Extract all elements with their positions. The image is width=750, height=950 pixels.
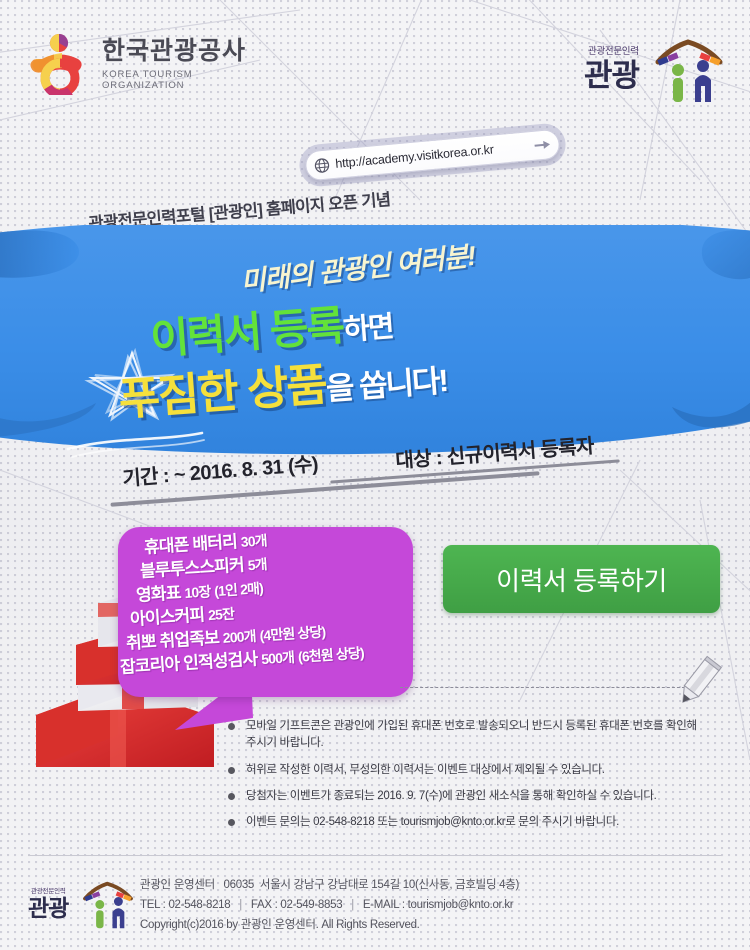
prize-note-3: (1인 2매) — [214, 580, 264, 599]
note-item: 허위로 작성한 이력서, 무성의한 이력서는 이벤트 대상에서 제외될 수 있습… — [228, 762, 698, 779]
headline-2-highlight: 푸짐한 상품 — [117, 359, 328, 425]
note-text: 모바일 기프트콘은 관광인에 가입된 휴대폰 번호로 발송되오니 반드시 등록된… — [246, 720, 697, 749]
footer-logo-tagline: 관광전문인력 — [31, 885, 66, 895]
footer-separator: | — [233, 899, 248, 911]
footer-contact-line: TEL : 02-548-8218 | FAX : 02-549-8853 | … — [140, 896, 519, 916]
banner-subhead: 미래의 관광인 여러분! — [239, 234, 477, 299]
bullet-icon — [228, 723, 235, 730]
footer-separator: | — [345, 899, 360, 911]
prize-name-6: 잡코리아 인적성검사 — [120, 649, 258, 677]
prize-list: 휴대폰 배터리 30개 블루투스스피커 5개 영화표 10장 (1인 2매) 아… — [118, 527, 418, 702]
portal-logo[interactable]: 관광전문인력 관광 — [582, 30, 722, 110]
bullet-icon — [228, 767, 235, 774]
prize-qty-5: 200개 — [222, 628, 256, 646]
note-item: 당첨자는 이벤트가 종료되는 2016. 9. 7(수)에 관광인 새소식을 통… — [228, 788, 698, 805]
banner-text-layer: 미래의 관광인 여러분! 이력서 등록하면 푸짐한 상품을 쏩니다! — [0, 225, 750, 470]
bullet-icon — [228, 793, 235, 800]
promo-page: 한국관광공사 KOREA TOURISM ORGANIZATION 관광전문인력… — [0, 0, 750, 950]
in-mark-icon — [82, 876, 134, 930]
footer-copyright: Copyright(c)2016 by 관광인 운영센터. All Rights… — [140, 916, 519, 936]
prize-qty-6: 500개 — [261, 649, 295, 667]
footer-logo-name: 관광 — [28, 897, 68, 920]
register-resume-button[interactable]: 이력서 등록하기 — [443, 545, 720, 613]
kto-ribbon-icon — [30, 33, 92, 95]
footer-email: E-MAIL : tourismjob@knto.or.kr — [363, 899, 514, 911]
portal-logo-name: 관광 — [584, 60, 639, 91]
blue-banner: 미래의 관광인 여러분! 이력서 등록하면 푸짐한 상품을 쏩니다! — [0, 225, 750, 470]
footer-divider — [28, 855, 722, 856]
prize-qty-4: 25잔 — [208, 605, 235, 623]
note-text: 당첨자는 이벤트가 종료되는 2016. 9. 7(수)에 관광인 새소식을 통… — [246, 790, 656, 802]
prize-note-6: (6천원 상당) — [298, 645, 365, 665]
portal-logo-tagline: 관광전문인력 — [588, 43, 639, 57]
footer-address-line: 관광인 운영센터 06035 서울시 강남구 강남대로 154길 10(신사동,… — [140, 876, 519, 896]
footer-logo[interactable]: 관광전문인력 관광 — [28, 876, 133, 938]
notes-list: 모바일 기프트콘은 관광인에 가입된 휴대폰 번호로 발송되오니 반드시 등록된… — [228, 718, 698, 840]
page-header: 한국관광공사 KOREA TOURISM ORGANIZATION 관광전문인력… — [0, 0, 750, 130]
footer-org: 관광인 운영센터 — [140, 879, 215, 891]
pencil-icon — [668, 655, 726, 713]
footer-text: 관광인 운영센터 06035 서울시 강남구 강남대로 154길 10(신사동,… — [140, 876, 519, 935]
note-text: 이벤트 문의는 02-548-8218 또는 tourismjob@knto.o… — [246, 816, 619, 828]
footer-tel: TEL : 02-548-8218 — [140, 899, 230, 911]
headline-1-tail: 하면 — [342, 311, 394, 347]
bullet-icon — [228, 819, 235, 826]
kto-name-en: KOREA TOURISM ORGANIZATION — [102, 69, 260, 91]
in-mark-icon — [654, 32, 724, 104]
url-text: http://academy.visitkorea.or.kr — [335, 142, 495, 170]
dashed-divider — [400, 687, 690, 689]
note-item: 모바일 기프트콘은 관광인에 가입된 휴대폰 번호로 발송되오니 반드시 등록된… — [228, 718, 698, 753]
kto-name-kr: 한국관광공사 — [102, 39, 260, 64]
footer-fax: FAX : 02-549-8853 — [251, 899, 342, 911]
note-item: 이벤트 문의는 02-548-8218 또는 tourismjob@knto.o… — [228, 814, 698, 831]
kto-logo[interactable]: 한국관광공사 KOREA TOURISM ORGANIZATION — [30, 33, 260, 103]
url-bar-wrapper[interactable]: http://academy.visitkorea.or.kr — [304, 129, 561, 182]
globe-icon — [314, 157, 330, 173]
arrow-right-icon[interactable] — [534, 138, 551, 151]
prize-qty-2: 5개 — [247, 556, 267, 573]
footer-zipcode: 06035 — [224, 879, 254, 891]
prize-qty-3: 10장 — [184, 583, 211, 601]
headline-2-tail: 을 쏩니다! — [325, 363, 448, 407]
url-bar[interactable]: http://academy.visitkorea.or.kr — [304, 129, 561, 182]
note-text: 허위로 작성한 이력서, 무성의한 이력서는 이벤트 대상에서 제외될 수 있습… — [246, 764, 605, 776]
footer-address: 서울시 강남구 강남대로 154길 10(신사동, 금호빌딩 4층) — [260, 879, 519, 891]
page-footer: 관광전문인력 관광 관광인 운영센터 06035 서울시 강남구 강남대로 15… — [0, 868, 750, 950]
prize-qty-1: 30개 — [240, 532, 267, 550]
